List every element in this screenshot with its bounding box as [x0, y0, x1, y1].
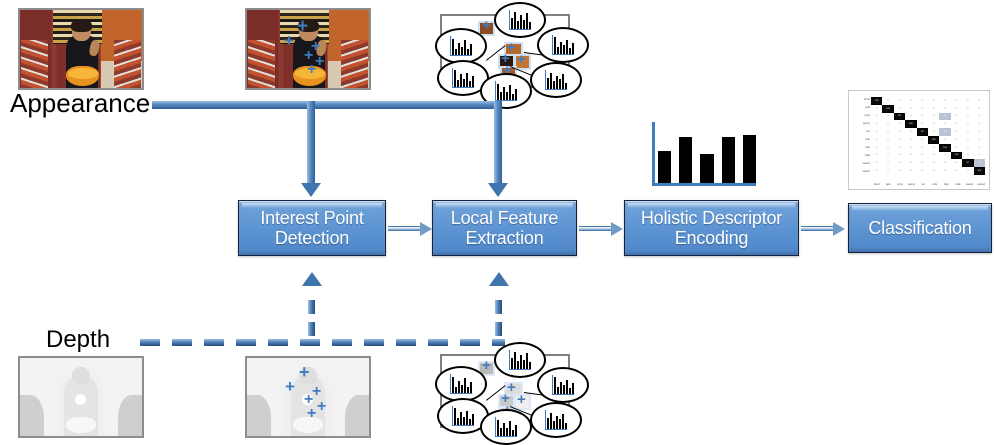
confusion-matrix-cell: 0 [939, 105, 950, 113]
histogram-icon [509, 10, 531, 30]
classification-confusion-matrix: 1000000000000100000000000089000110000001… [848, 90, 990, 190]
appearance-branch-to-extraction [494, 101, 502, 183]
histogram-icon [450, 374, 472, 394]
stage-label-line1: Interest Point [260, 208, 363, 228]
interest-point-marker: + [517, 52, 526, 67]
bar [722, 137, 735, 183]
matrix-col-label: wave2 [975, 183, 987, 186]
confusion-matrix-cell: 0 [917, 120, 928, 128]
appearance-arrow-to-extraction [488, 183, 508, 197]
confusion-matrix-cell: 0 [951, 128, 962, 136]
histogram-icon [450, 36, 472, 56]
confusion-matrix-cell: 0 [974, 120, 985, 128]
confusion-matrix-cell: 0 [917, 152, 928, 160]
confusion-matrix-cell: 0 [939, 159, 950, 167]
confusion-matrix-cell: 0 [871, 167, 882, 175]
interest-point-marker: + [299, 363, 310, 381]
stage-label-line1: Holistic Descriptor [641, 208, 782, 228]
confusion-matrix-cell: 67 [962, 159, 973, 167]
bar [679, 137, 692, 183]
connector-detection-to-extraction [388, 224, 432, 233]
matrix-col-label: jack [883, 183, 895, 186]
confusion-matrix-cell: 0 [962, 97, 973, 105]
confusion-matrix-cell: 0 [928, 152, 939, 160]
stage-label-line2: Encoding [675, 228, 748, 248]
confusion-matrix-cell: 0 [974, 97, 985, 105]
confusion-matrix-cell: 0 [962, 128, 973, 136]
depth-branch-to-detection [308, 300, 315, 314]
connector-extraction-to-encoding [579, 224, 623, 233]
confusion-matrix-cell: 0 [894, 97, 905, 105]
local-feature-histogram-bubble [537, 367, 589, 403]
stage-classification[interactable]: Classification [848, 203, 992, 253]
confusion-matrix-cell: 0 [894, 128, 905, 136]
confusion-matrix-cell: 0 [928, 113, 939, 121]
appearance-arrow-to-detection [301, 183, 321, 197]
matrix-row-label: jack [850, 106, 870, 109]
confusion-matrix-cell: 11 [939, 113, 950, 121]
holistic-descriptor-histogram [652, 122, 756, 186]
confusion-matrix-cell: 0 [871, 144, 882, 152]
stage-label-line2: Extraction [465, 228, 543, 248]
depth-branch-to-extraction [495, 300, 502, 314]
confusion-matrix-cell: 0 [928, 144, 939, 152]
stage-label-line1: Classification [868, 218, 971, 238]
depth-flow-dash [204, 339, 224, 346]
confusion-matrix-cell: 0 [928, 159, 939, 167]
confusion-matrix-cell: 0 [894, 159, 905, 167]
confusion-matrix-cell: 0 [974, 152, 985, 160]
connector-encoding-to-classification [801, 224, 845, 233]
confusion-matrix-cell: 0 [939, 120, 950, 128]
depth-interest-points: + + + + + + [245, 356, 371, 438]
confusion-matrix-cell: 0 [871, 105, 882, 113]
confusion-matrix-cell: 0 [871, 113, 882, 121]
appearance-branch-to-detection [307, 101, 315, 183]
histogram-icon [495, 417, 517, 437]
stage-label-line2: Detection [275, 228, 349, 248]
histogram-icon [509, 350, 531, 370]
histogram-icon [452, 406, 474, 426]
matrix-row-label: wave2 [850, 170, 870, 173]
confusion-matrix-cell: 0 [951, 136, 962, 144]
depth-arrow-to-extraction [489, 272, 509, 286]
confusion-matrix-grid: 1000000000000100000000000089000110000001… [871, 97, 985, 175]
confusion-matrix-cell: 0 [951, 105, 962, 113]
confusion-matrix-cell: 0 [871, 159, 882, 167]
matrix-row-label: skip [850, 146, 870, 149]
confusion-matrix-cell: 0 [882, 120, 893, 128]
confusion-matrix-cell: 0 [871, 152, 882, 160]
depth-flow-dash [236, 339, 256, 346]
confusion-matrix-cell: 100 [882, 105, 893, 113]
histogram-icon [545, 70, 567, 90]
rgb-photo-content [20, 10, 142, 88]
appearance-flow-line [152, 101, 502, 109]
confusion-matrix-cell: 100 [928, 136, 939, 144]
confusion-matrix-cell: 0 [905, 152, 916, 160]
matrix-col-label: walk [952, 183, 964, 186]
confusion-matrix-cell: 89 [917, 128, 928, 136]
histogram-icon [552, 375, 574, 395]
depth-stream-label: Depth [46, 326, 110, 354]
stage-label-line1: Local Feature [451, 208, 558, 228]
matrix-row-label: side [850, 138, 870, 141]
chart-x-axis [652, 183, 756, 186]
confusion-matrix-cell: 0 [905, 167, 916, 175]
confusion-matrix-cell: 100 [871, 97, 882, 105]
interest-point-marker: + [317, 399, 326, 415]
confusion-matrix-cell: 0 [939, 97, 950, 105]
interest-point-marker: + [285, 378, 295, 395]
matrix-col-label: wave1 [964, 183, 976, 186]
local-feature-histogram-bubble [435, 366, 487, 402]
confusion-matrix-cell: 0 [928, 105, 939, 113]
confusion-matrix-cell: 0 [939, 152, 950, 160]
confusion-matrix-cell: 0 [917, 136, 928, 144]
confusion-matrix-cell: 0 [928, 128, 939, 136]
interest-point-marker: + [297, 17, 308, 36]
matrix-col-label: run [917, 183, 929, 186]
confusion-matrix-cell: 0 [894, 152, 905, 160]
interest-point-marker: + [482, 18, 491, 33]
matrix-row-label: bend [850, 98, 870, 101]
matrix-row-label: walk [850, 154, 870, 157]
confusion-matrix-cell: 0 [917, 113, 928, 121]
confusion-matrix-cell: 0 [917, 105, 928, 113]
matrix-row-label: jump [850, 114, 870, 117]
local-feature-histogram-bubble [530, 402, 582, 438]
confusion-matrix-cell: 0 [871, 136, 882, 144]
depth-flow-dash [268, 339, 288, 346]
matrix-col-label: side [929, 183, 941, 186]
confusion-matrix-cell: 0 [871, 128, 882, 136]
confusion-matrix-cell: 0 [882, 159, 893, 167]
matrix-col-label: pjump [906, 183, 918, 186]
confusion-matrix-cell: 0 [894, 105, 905, 113]
local-feature-histogram-bubble [480, 409, 532, 445]
local-feature-histogram-bubble [494, 342, 546, 378]
confusion-matrix-cell: 0 [894, 136, 905, 144]
confusion-matrix-cell: 0 [974, 136, 985, 144]
depth-map-content [20, 358, 142, 436]
confusion-matrix-cell: 0 [882, 97, 893, 105]
local-feature-histogram-bubble [537, 27, 589, 63]
confusion-matrix-cell: 0 [974, 128, 985, 136]
depth-arrow-to-detection [302, 272, 322, 286]
depth-map-frame [18, 356, 144, 438]
confusion-matrix-cell: 0 [917, 144, 928, 152]
stage-interest-point-detection[interactable]: Interest Point Detection [238, 200, 386, 256]
confusion-matrix-cell: 0 [951, 159, 962, 167]
depth-branch-to-extraction [495, 322, 502, 336]
stage-local-feature-extraction[interactable]: Local Feature Extraction [432, 200, 577, 256]
confusion-matrix-cell: 0 [962, 136, 973, 144]
appearance-stream-label: Appearance [10, 88, 150, 119]
interest-point-marker: + [517, 392, 526, 407]
bar [743, 135, 756, 183]
interest-point-marker: + [315, 54, 324, 70]
confusion-matrix-cell: 100 [974, 167, 985, 175]
confusion-matrix-cell: 0 [894, 167, 905, 175]
confusion-matrix-cell: 0 [905, 136, 916, 144]
confusion-matrix-cell: 0 [951, 113, 962, 121]
confusion-matrix-cell: 0 [928, 120, 939, 128]
confusion-matrix-cell: 0 [917, 159, 928, 167]
appearance-interest-points: + + + + + + [245, 8, 371, 90]
confusion-matrix-cell: 89 [894, 113, 905, 121]
confusion-matrix-cell: 0 [917, 97, 928, 105]
confusion-matrix-cell: 0 [951, 97, 962, 105]
matrix-col-label: skip [941, 183, 953, 186]
confusion-matrix-cell: 0 [894, 144, 905, 152]
histogram-icon [452, 68, 474, 88]
matrix-row-label: run [850, 130, 870, 133]
stage-holistic-descriptor-encoding[interactable]: Holistic Descriptor Encoding [624, 200, 799, 256]
bar [658, 151, 671, 183]
histogram-icon [495, 81, 517, 101]
confusion-matrix-cell: 0 [871, 120, 882, 128]
matrix-row-label: pjump [850, 122, 870, 125]
confusion-matrix-cell: 0 [905, 97, 916, 105]
depth-branch-to-detection [308, 322, 315, 336]
confusion-matrix-cell: 0 [951, 167, 962, 175]
confusion-matrix-cell: 0 [962, 152, 973, 160]
histogram-icon [552, 35, 574, 55]
confusion-matrix-cell: 0 [939, 167, 950, 175]
local-feature-histogram-bubble [530, 62, 582, 98]
depth-flow-dash [364, 339, 384, 346]
depth-flow-dash [332, 339, 352, 346]
confusion-matrix-cell: 0 [905, 128, 916, 136]
confusion-matrix-cell: 0 [905, 113, 916, 121]
confusion-matrix-cell: 0 [962, 144, 973, 152]
interest-point-marker: + [482, 358, 491, 373]
confusion-matrix-cell: 0 [882, 113, 893, 121]
chart-y-axis [652, 122, 655, 186]
confusion-matrix-cell: 0 [974, 113, 985, 121]
local-feature-histogram-bubble [494, 2, 546, 38]
matrix-col-label: jump [894, 183, 906, 186]
confusion-matrix-cell: 0 [894, 120, 905, 128]
depth-flow-dash [172, 339, 192, 346]
interest-point-marker: + [307, 406, 316, 422]
matrix-row-label: wave1 [850, 162, 870, 165]
confusion-matrix-cell: 0 [962, 113, 973, 121]
local-feature-histogram-bubble [435, 28, 487, 64]
depth-flow-dash [140, 339, 160, 346]
chart-bars [658, 122, 756, 183]
confusion-matrix-cell: 0 [928, 167, 939, 175]
confusion-matrix-cell: 0 [905, 159, 916, 167]
depth-flow-dash [460, 339, 480, 346]
confusion-matrix-cell: 0 [962, 167, 973, 175]
confusion-matrix-cell: 0 [962, 120, 973, 128]
confusion-matrix-cell: 0 [917, 167, 928, 175]
confusion-matrix-cell: 0 [882, 136, 893, 144]
confusion-matrix-cell: 100 [951, 152, 962, 160]
confusion-matrix-cell: 0 [882, 144, 893, 152]
confusion-matrix-cell: 0 [974, 105, 985, 113]
confusion-matrix-cell: 0 [974, 144, 985, 152]
interest-point-marker: + [284, 32, 294, 49]
depth-flow-dash [396, 339, 416, 346]
confusion-matrix-cell: 0 [939, 136, 950, 144]
confusion-matrix-cell: 0 [928, 97, 939, 105]
histogram-icon [545, 410, 567, 430]
depth-flow-dash [428, 339, 448, 346]
confusion-matrix-cell: 0 [951, 120, 962, 128]
confusion-matrix-cell: 0 [882, 128, 893, 136]
confusion-matrix-cell: 0 [882, 167, 893, 175]
matrix-col-label: bend [871, 183, 883, 186]
depth-flow-dash [300, 339, 320, 346]
confusion-matrix-cell: 100 [939, 144, 950, 152]
confusion-matrix-cell: 11 [939, 128, 950, 136]
bar [700, 154, 713, 183]
confusion-matrix-cell: 0 [905, 144, 916, 152]
confusion-matrix-cell: 100 [905, 120, 916, 128]
appearance-rgb-frame [18, 8, 144, 90]
confusion-matrix-cell: 0 [951, 144, 962, 152]
confusion-matrix-cell: 0 [962, 105, 973, 113]
confusion-matrix-cell: 0 [905, 105, 916, 113]
confusion-matrix-cell: 33 [974, 159, 985, 167]
confusion-matrix-cell: 0 [882, 152, 893, 160]
interest-point-marker: + [307, 62, 316, 78]
